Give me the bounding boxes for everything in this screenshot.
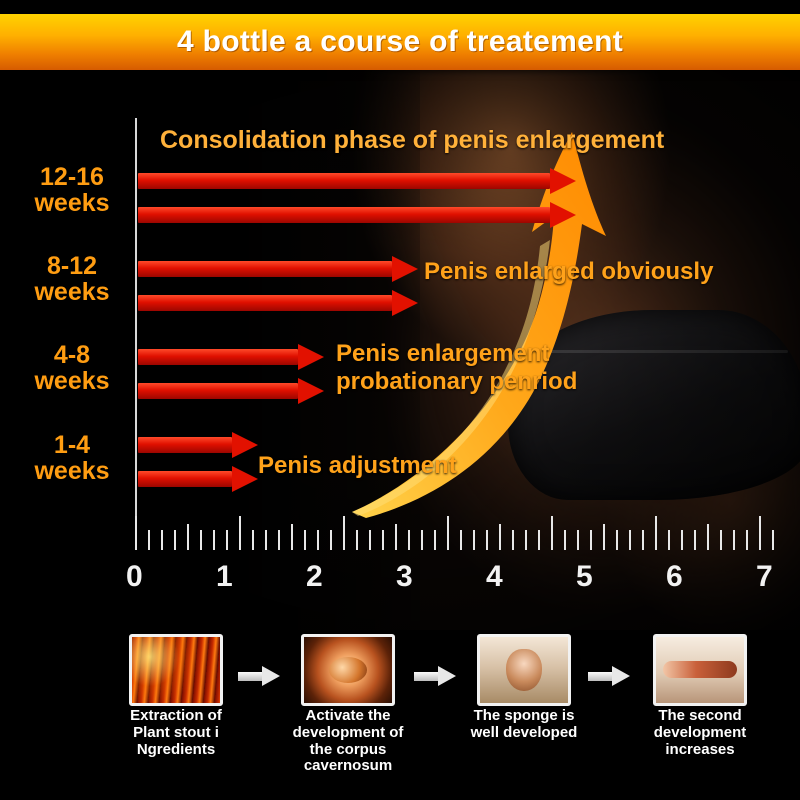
infographic-canvas: 4 bottle a course of treatement: [0, 0, 800, 800]
step-3-label: The sponge is well developed: [468, 708, 580, 742]
cross-section-thumbnail: [301, 634, 395, 706]
x-tick-5: 5: [576, 560, 593, 594]
caption-penis-enlarged-obviously: Penis enlarged obviously: [424, 258, 713, 286]
step-arrow-2-icon: [414, 666, 458, 686]
bar-8-12-weeks-upper: [138, 256, 418, 282]
plant-roots-thumbnail: [129, 634, 223, 706]
x-tick-3: 3: [396, 560, 413, 594]
step-4[interactable]: The second development increases: [644, 634, 756, 758]
caption-penis-adjustment: Penis adjustment: [258, 452, 457, 480]
page-title: 4 bottle a course of treatement: [177, 25, 623, 59]
caption-penis-enlargement-probationary: Penis enlargement probationary penriod: [336, 340, 577, 397]
bar-8-12-weeks-lower: [138, 290, 418, 316]
step-arrow-1-icon: [238, 666, 282, 686]
step-4-label: The second development increases: [644, 708, 756, 758]
x-tick-6: 6: [666, 560, 683, 594]
process-steps: Extraction of Plant stout i Ngredients A…: [120, 630, 800, 800]
shaft-diagram-thumbnail: [653, 634, 747, 706]
step-2[interactable]: Activate the development of the corpus c…: [292, 634, 404, 775]
x-tick-2: 2: [306, 560, 323, 594]
bar-4-8-weeks-upper: [138, 344, 324, 370]
bar-4-8-weeks-lower: [138, 378, 324, 404]
x-tick-0: 0: [126, 560, 143, 594]
x-axis-tick-labels: 0 1 2 3 4 5 6 7: [118, 560, 798, 600]
row-label-4-8-weeks: 4-8 weeks: [14, 342, 130, 395]
row-label-1-4-weeks: 1-4 weeks: [14, 432, 130, 485]
x-tick-7: 7: [756, 560, 773, 594]
anatomy-diagram-thumbnail: [477, 634, 571, 706]
step-1-label: Extraction of Plant stout i Ngredients: [120, 708, 232, 758]
x-tick-4: 4: [486, 560, 503, 594]
step-3[interactable]: The sponge is well developed: [468, 634, 580, 742]
x-axis-ruler: [135, 510, 785, 550]
y-axis-line: [135, 118, 137, 550]
header-banner: 4 bottle a course of treatement: [0, 14, 800, 70]
bar-12-16-weeks-upper: [138, 168, 576, 194]
step-2-label: Activate the development of the corpus c…: [292, 708, 404, 775]
row-label-12-16-weeks: 12-16 weeks: [14, 164, 130, 217]
bar-1-4-weeks-upper: [138, 432, 258, 458]
row-label-8-12-weeks: 8-12 weeks: [14, 253, 130, 306]
step-arrow-3-icon: [588, 666, 632, 686]
bar-1-4-weeks-lower: [138, 466, 258, 492]
caption-consolidation-phase: Consolidation phase of penis enlargement: [160, 126, 664, 156]
x-tick-1: 1: [216, 560, 233, 594]
step-1[interactable]: Extraction of Plant stout i Ngredients: [120, 634, 232, 758]
bar-12-16-weeks-lower: [138, 202, 576, 228]
